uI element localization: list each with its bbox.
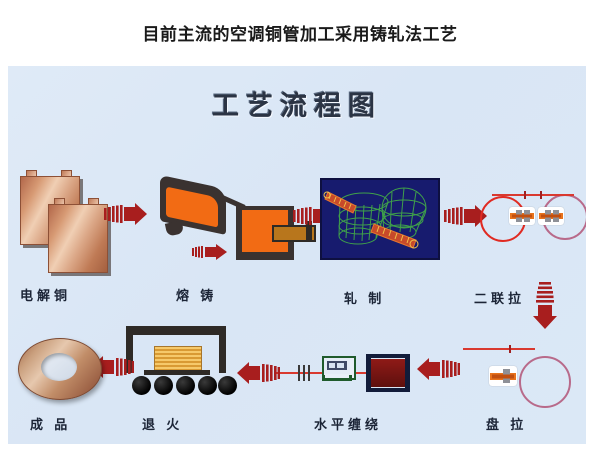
furnace-roller xyxy=(132,376,151,395)
page-title: 目前主流的空调铜管加工采用铸轧法工艺 xyxy=(0,20,600,45)
stage-label-double-chain-drawing: 二联拉 xyxy=(474,288,525,307)
left-arrow-icon xyxy=(416,358,460,380)
furnace-roller xyxy=(176,376,195,395)
spool-bottom-bar xyxy=(366,388,410,392)
copper-coil-stack xyxy=(154,346,202,372)
wire-tick xyxy=(540,191,542,199)
draw-wire-line xyxy=(463,348,535,350)
stage-label-finished-product: 成 品 xyxy=(30,414,71,433)
process-flow-diagram: 工艺流程图 电解铜 xyxy=(8,66,586,444)
wire-tick xyxy=(298,365,300,381)
stage-coil-drawing[interactable] xyxy=(463,338,583,410)
slide-canvas: 目前主流的空调铜管加工采用铸轧法工艺 工艺流程图 电解铜 xyxy=(0,0,600,450)
stage-label-rolling: 轧 制 xyxy=(344,288,385,307)
spool-top-bar xyxy=(366,354,410,358)
stage-label-melting-casting: 熔 铸 xyxy=(176,285,217,304)
stage-label-electrolytic-copper: 电解铜 xyxy=(20,285,71,304)
down-arrow-icon xyxy=(533,282,557,330)
wire-tick xyxy=(509,345,511,353)
winder-screen-icon xyxy=(324,358,350,374)
stage-rolling[interactable] xyxy=(320,178,440,260)
spool-flange-right xyxy=(405,354,410,392)
drawing-die-icon xyxy=(538,207,564,225)
drawing-die-icon xyxy=(489,366,517,386)
furnace-hood-right-post xyxy=(219,335,226,373)
furnace-hood-top xyxy=(126,326,226,335)
right-arrow-icon xyxy=(104,203,148,225)
drawing-die[interactable] xyxy=(489,366,517,386)
furnace-roller xyxy=(218,376,237,395)
winder-base xyxy=(322,378,352,381)
stage-label-coil-drawing: 盘 拉 xyxy=(486,414,527,433)
planetary-rolling-mill-icon xyxy=(322,180,434,254)
stage-annealing[interactable] xyxy=(118,318,238,413)
draw-wire-line xyxy=(492,194,574,196)
drawing-die-2[interactable] xyxy=(538,207,564,225)
furnace-pallet xyxy=(144,370,210,375)
stage-electrolytic-copper[interactable] xyxy=(12,166,122,296)
winder-leg xyxy=(349,375,352,381)
wire-tick xyxy=(524,191,526,199)
coil-bore xyxy=(41,353,77,381)
copper-cathode-plate-front xyxy=(48,204,108,273)
wire-tick xyxy=(303,365,305,381)
drawing-die-icon xyxy=(509,207,535,225)
spool-body xyxy=(371,359,405,387)
draw-coil xyxy=(519,356,571,408)
wire-tick xyxy=(308,365,310,381)
ladle-spout xyxy=(165,220,184,236)
winder-leg xyxy=(322,375,325,381)
stage-label-horizontal-winding: 水平缠绕 xyxy=(314,414,382,433)
stage-horizontal-winding[interactable] xyxy=(276,342,416,408)
left-arrow-icon xyxy=(236,362,280,384)
drawing-die-1[interactable] xyxy=(509,207,535,225)
stage-finished-product[interactable] xyxy=(14,334,106,408)
stage-melting-casting[interactable] xyxy=(158,170,293,280)
furnace-roller xyxy=(154,376,173,395)
right-arrow-icon xyxy=(192,244,228,260)
furnace-roller xyxy=(198,376,217,395)
diagram-title: 工艺流程图 xyxy=(8,84,586,123)
stage-label-annealing: 退 火 xyxy=(142,414,183,433)
stage-double-chain-drawing[interactable] xyxy=(478,180,586,256)
